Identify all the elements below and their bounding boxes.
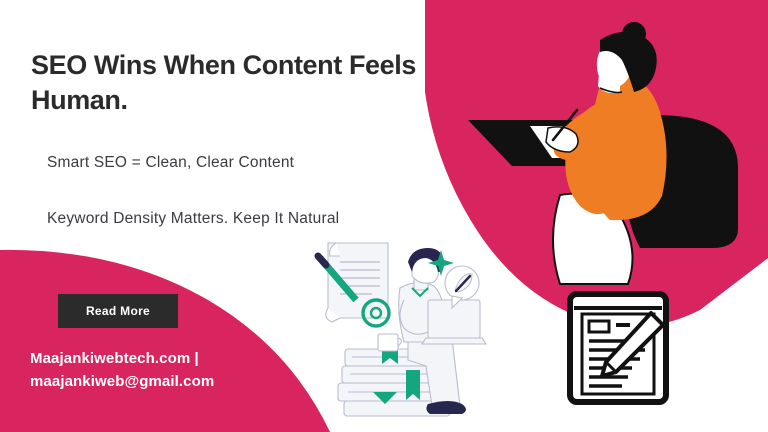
subheading-1: Smart SEO = Clean, Clear Content: [47, 153, 294, 173]
document-with-pencil-icon: [570, 294, 666, 402]
contact-website[interactable]: Maajankiwebtech.com |: [30, 348, 350, 371]
contact-email[interactable]: maajankiweb@gmail.com: [30, 371, 350, 394]
page-title: SEO Wins When Content Feels Human.: [31, 48, 451, 117]
seo-banner: SEO Wins When Content Feels Human. Smart…: [0, 0, 768, 432]
contact-info: Maajankiwebtech.com | maajankiweb@gmail.…: [30, 348, 350, 393]
subheading-2: Keyword Density Matters. Keep It Natural: [47, 209, 339, 229]
read-more-button[interactable]: Read More: [58, 294, 178, 328]
